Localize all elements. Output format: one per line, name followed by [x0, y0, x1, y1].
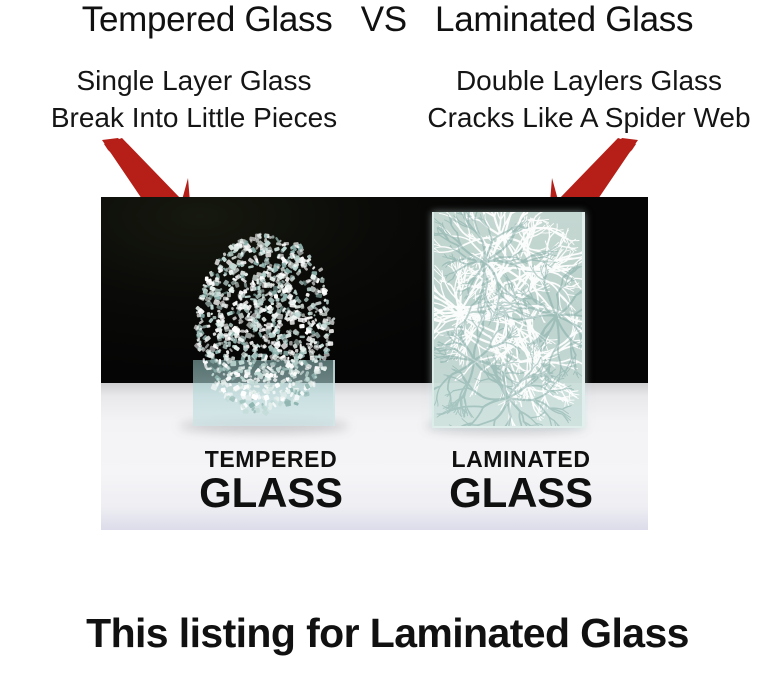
caption-tempered-line2: Break Into Little Pieces — [14, 99, 374, 136]
photo-label-tempered-big: GLASS — [171, 471, 371, 514]
photo-label-tempered: TEMPERED GLASS — [171, 447, 371, 514]
page-title: Tempered Glass VS Laminated Glass — [0, 0, 775, 40]
spider-web-cracks-icon — [434, 212, 582, 426]
caption-laminated: Double Laylers Glass Cracks Like A Spide… — [408, 62, 770, 136]
photo-label-laminated: LAMINATED GLASS — [421, 447, 621, 514]
caption-laminated-line2: Cracks Like A Spider Web — [408, 99, 770, 136]
comparison-photo: TEMPERED GLASS LAMINATED GLASS — [101, 197, 648, 530]
caption-tempered: Single Layer Glass Break Into Little Pie… — [14, 62, 374, 136]
photo-label-laminated-big: GLASS — [421, 471, 621, 514]
photo-label-laminated-small: LAMINATED — [421, 447, 621, 471]
caption-tempered-line1: Single Layer Glass — [14, 62, 374, 99]
photo-label-tempered-small: TEMPERED — [171, 447, 371, 471]
tempered-fragments-icon — [189, 210, 337, 426]
caption-laminated-line1: Double Laylers Glass — [408, 62, 770, 99]
tempered-glass-panel — [189, 210, 337, 426]
laminated-glass-panel — [432, 212, 585, 428]
listing-note: This listing for Laminated Glass — [0, 607, 775, 659]
